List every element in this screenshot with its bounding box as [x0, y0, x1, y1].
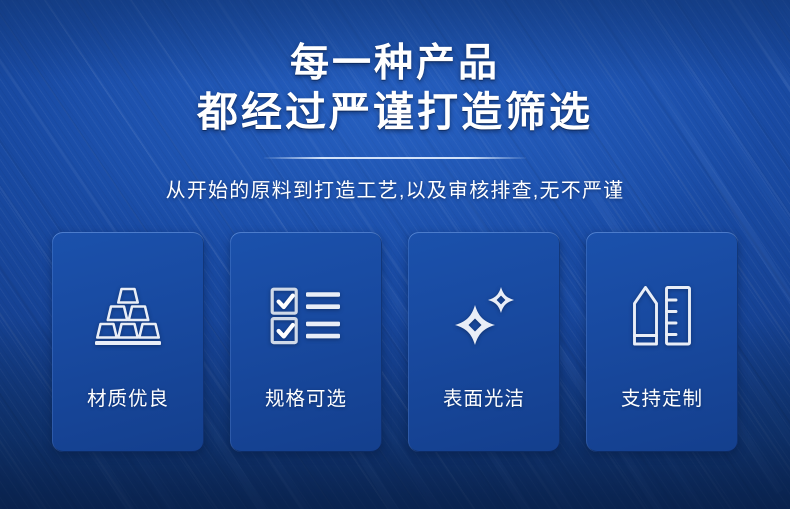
title-line-1: 每一种产品	[0, 42, 790, 86]
feature-card-label: 表面光洁	[443, 382, 525, 411]
feature-card-surface[interactable]: 表面光洁	[408, 232, 560, 452]
bottom-edge-strip	[0, 509, 790, 515]
feature-card-list: 材质优良 规格可选	[52, 232, 738, 452]
feature-card-spec[interactable]: 规格可选	[230, 232, 382, 452]
sparkle-shine-icon	[445, 280, 523, 352]
subtitle: 从开始的原料到打造工艺,以及审核排查,无不严谨	[0, 174, 790, 203]
feature-card-material[interactable]: 材质优良	[52, 232, 204, 452]
feature-card-label: 材质优良	[87, 382, 169, 411]
pencil-ruler-icon	[623, 280, 701, 352]
checklist-icon	[267, 280, 345, 352]
feature-card-label: 支持定制	[621, 382, 703, 411]
headline: 每一种产品 都经过严谨打造筛选	[0, 42, 790, 136]
feature-card-custom[interactable]: 支持定制	[586, 232, 738, 452]
promo-banner: 每一种产品 都经过严谨打造筛选 从开始的原料到打造工艺,以及审核排查,无不严谨 …	[0, 0, 790, 515]
feature-card-label: 规格可选	[265, 382, 347, 411]
headline-divider	[264, 157, 526, 159]
title-line-2: 都经过严谨打造筛选	[0, 90, 790, 136]
ingot-stack-icon	[89, 280, 167, 352]
